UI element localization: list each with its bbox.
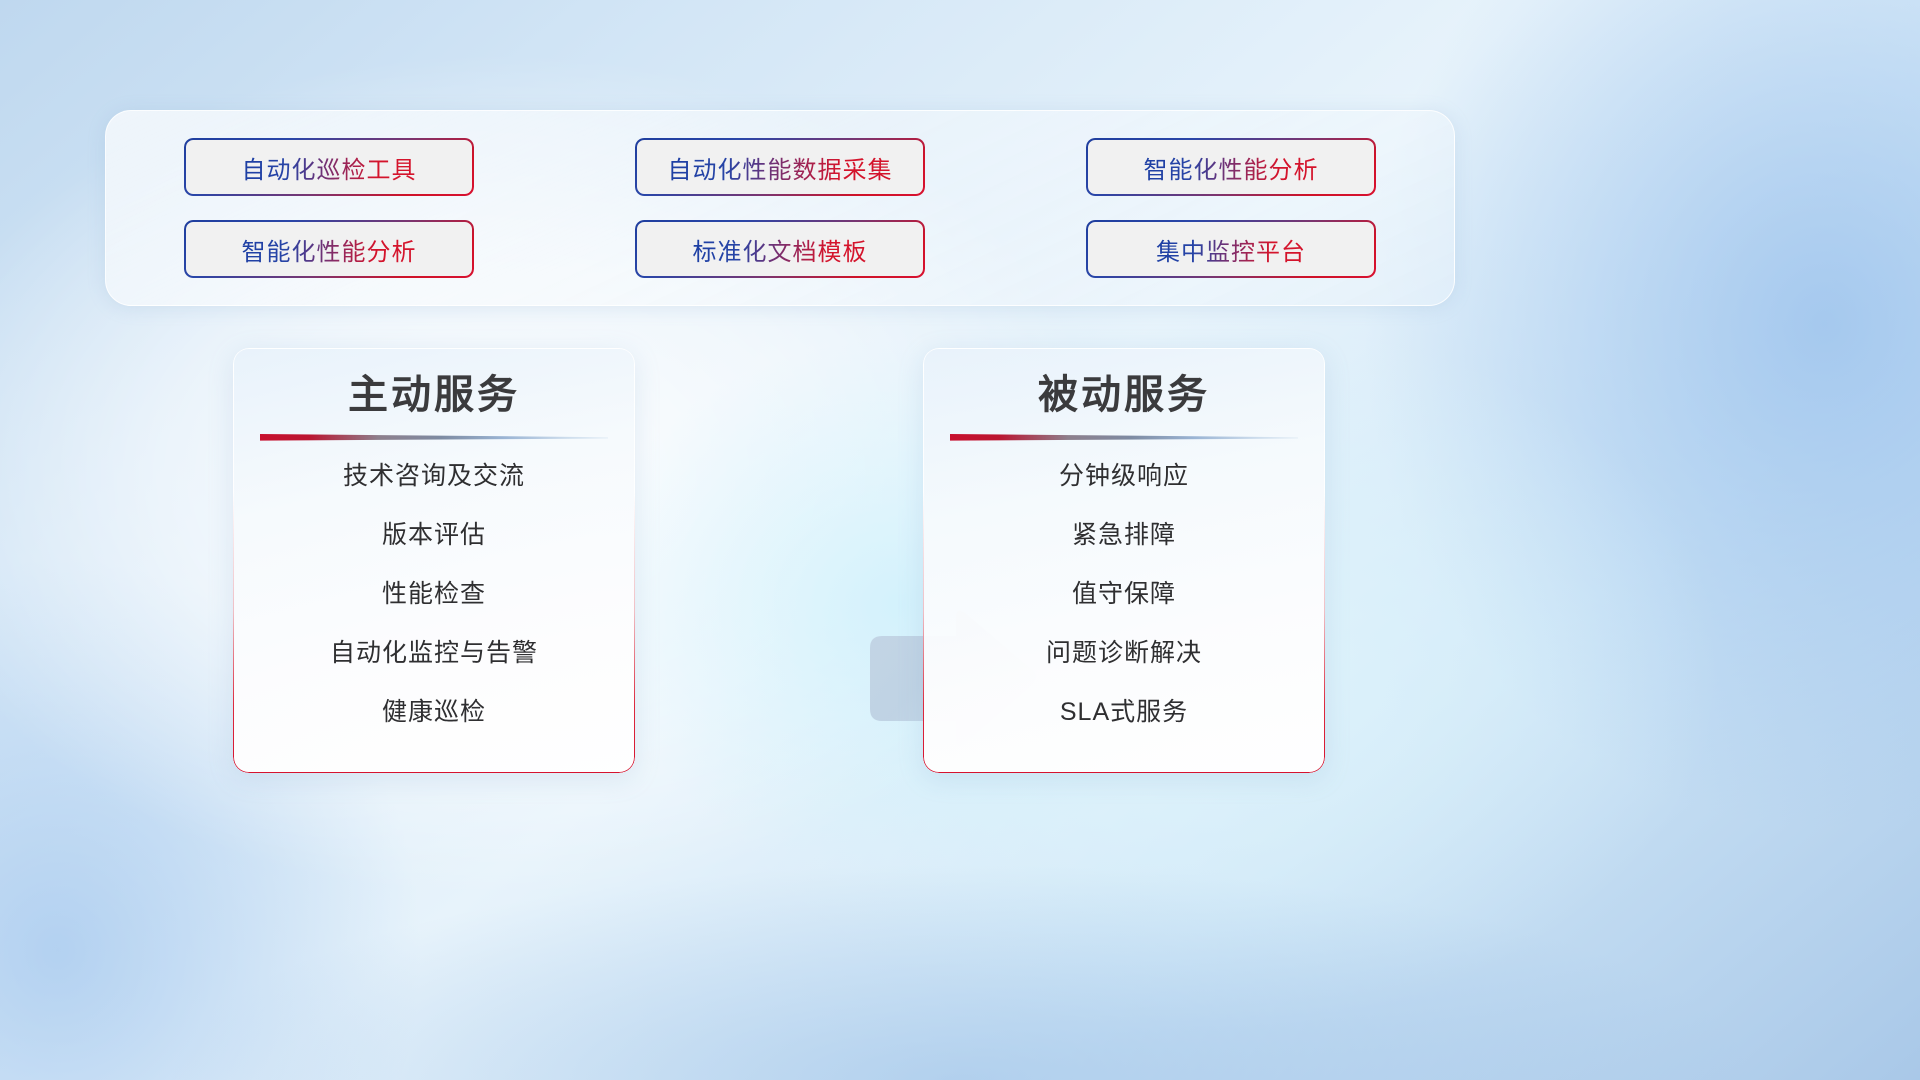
card-title-divider — [950, 432, 1298, 444]
list-item: 技术咨询及交流 — [343, 464, 525, 489]
list-item: 性能检查 — [382, 582, 486, 607]
card-service-list: 分钟级响应 紧急排障 值守保障 问题诊断解决 SLA式服务 — [923, 464, 1325, 725]
list-item: SLA式服务 — [1060, 700, 1188, 725]
capability-row-2: 智能化性能分析 标准化文档模板 集中监控平台 — [184, 220, 1376, 278]
card-proactive-service: 主动服务 技术咨询及交流 版本评估 — [233, 348, 635, 773]
list-item: 版本评估 — [382, 523, 486, 548]
capability-pill-intelligent-performance-analysis[interactable]: 智能化性能分析 — [1086, 138, 1376, 196]
card-title: 被动服务 — [1038, 370, 1210, 420]
capability-pill-label: 标准化文档模板 — [693, 232, 868, 267]
card-service-list: 技术咨询及交流 版本评估 性能检查 自动化监控与告警 健康巡检 — [233, 464, 635, 725]
capability-pill-intelligent-performance-analysis-2[interactable]: 智能化性能分析 — [184, 220, 474, 278]
capability-pill-label: 自动化巡检工具 — [242, 150, 417, 185]
capability-pill-label: 智能化性能分析 — [242, 232, 417, 267]
card-title: 主动服务 — [348, 370, 520, 420]
card-reactive-service: 被动服务 分钟级响应 紧急排障 — [923, 348, 1325, 773]
capability-row-1: 自动化巡检工具 自动化性能数据采集 智能化性能分析 — [184, 138, 1376, 196]
card-title-divider — [260, 432, 608, 444]
capability-pill-automation-performance-data-collection[interactable]: 自动化性能数据采集 — [635, 138, 925, 196]
capability-panel: 自动化巡检工具 自动化性能数据采集 智能化性能分析 智能化性能分析 标准化文档模… — [105, 110, 1455, 306]
capability-pill-label: 集中监控平台 — [1156, 232, 1306, 267]
list-item: 紧急排障 — [1072, 523, 1176, 548]
capability-pill-automation-inspection-tool[interactable]: 自动化巡检工具 — [184, 138, 474, 196]
list-item: 问题诊断解决 — [1046, 641, 1202, 666]
capability-pill-centralized-monitoring-platform[interactable]: 集中监控平台 — [1086, 220, 1376, 278]
capability-pill-label: 智能化性能分析 — [1144, 150, 1319, 185]
list-item: 健康巡检 — [382, 700, 486, 725]
capability-pill-label: 自动化性能数据采集 — [668, 150, 893, 185]
capability-pill-standardized-document-template[interactable]: 标准化文档模板 — [635, 220, 925, 278]
list-item: 分钟级响应 — [1059, 464, 1189, 489]
list-item: 值守保障 — [1072, 582, 1176, 607]
list-item: 自动化监控与告警 — [330, 641, 538, 666]
